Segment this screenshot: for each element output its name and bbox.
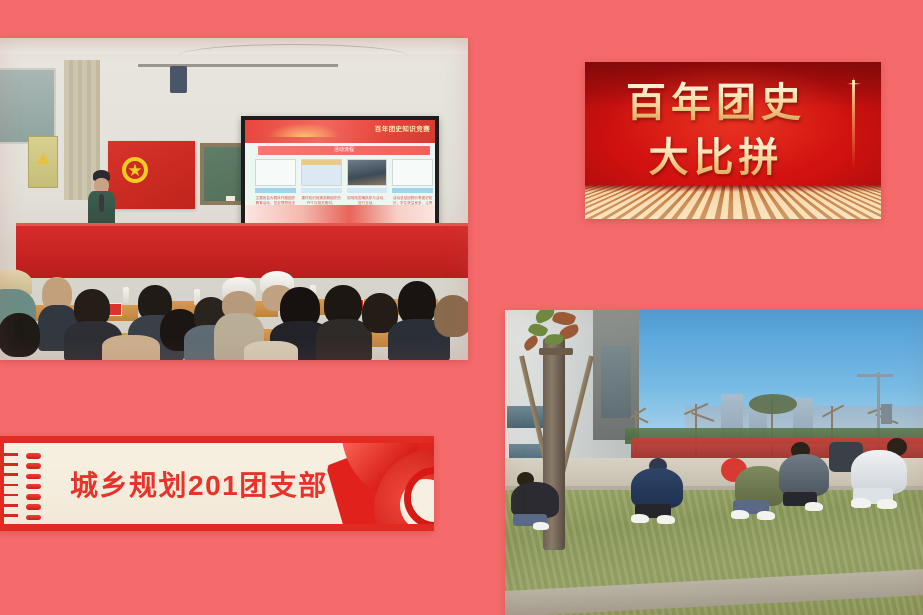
wall-rail — [138, 64, 338, 67]
photo-outdoor-volunteer — [505, 310, 923, 615]
decor-dash-pills — [26, 453, 42, 524]
star-icon: ★ — [127, 162, 142, 179]
pole-box — [881, 404, 892, 424]
card-bar — [301, 188, 342, 193]
slide-title: 百年团史知识竞赛 — [375, 123, 430, 133]
slide-header-bar: 百年团史知识竞赛 — [245, 120, 435, 143]
card-thumbnail — [347, 159, 388, 186]
classroom-door — [0, 68, 56, 144]
banner-line-1: 百年团史 — [585, 78, 847, 128]
microphone-icon — [99, 194, 104, 212]
page-title: 城乡规划201团支部 — [70, 464, 328, 504]
flag-star-emblem-icon: ★ — [122, 157, 148, 183]
audience-person — [244, 341, 298, 360]
audience-area — [0, 263, 468, 360]
slide-footer-graphic — [245, 205, 435, 224]
card-thumbnail — [301, 159, 342, 186]
card-bar — [392, 188, 433, 193]
ribbon-swirl-icon — [314, 443, 434, 524]
card-thumbnail — [255, 159, 296, 186]
card-thumbnail — [392, 159, 433, 186]
volunteer-person — [835, 436, 921, 528]
card-bar — [347, 188, 388, 193]
decor-dash-lines — [4, 453, 18, 524]
title-ribbon-inner: 城乡规划201团支部 — [4, 443, 434, 524]
audience-person — [102, 335, 160, 360]
communist-youth-league-flag: ★ — [108, 141, 195, 209]
photo-classroom: ★ 百年团史知识竞赛 活动流程 主题班会为载体开展团史教育活动，坚定理想信念并厚… — [0, 38, 468, 360]
projection-screen: 百年团史知识竞赛 活动流程 主题班会为载体开展团史教育活动，坚定理想信念并厚植爱… — [241, 116, 439, 228]
title-ribbon-banner: 城乡规划201团支部 — [0, 436, 434, 531]
card-bar — [255, 188, 296, 193]
presentation-slide: ★ 百年团史知识竞赛 活动流程 主题班会为载体开展团史教育活动，坚定理想信念并厚… — [0, 0, 923, 615]
slide-subtitle: 活动流程 — [258, 146, 430, 155]
wall-speaker — [170, 66, 187, 93]
banner-wooden-floor — [585, 185, 881, 219]
hero-banner: 百年团史 大比拼 — [585, 62, 881, 219]
banner-text-block: 百年团史 大比拼 — [585, 78, 881, 184]
volunteer-person — [507, 472, 567, 530]
chalk-eraser — [226, 196, 235, 201]
tree-tie — [539, 348, 573, 355]
audience-head — [0, 313, 40, 357]
light-pole-arm — [857, 374, 893, 377]
water-bottle — [123, 287, 129, 303]
banner-line-2: 大比拼 — [585, 132, 847, 184]
audience-head — [434, 295, 468, 337]
electrical-box-warning-icon — [28, 136, 58, 188]
volunteer-person — [627, 458, 689, 530]
